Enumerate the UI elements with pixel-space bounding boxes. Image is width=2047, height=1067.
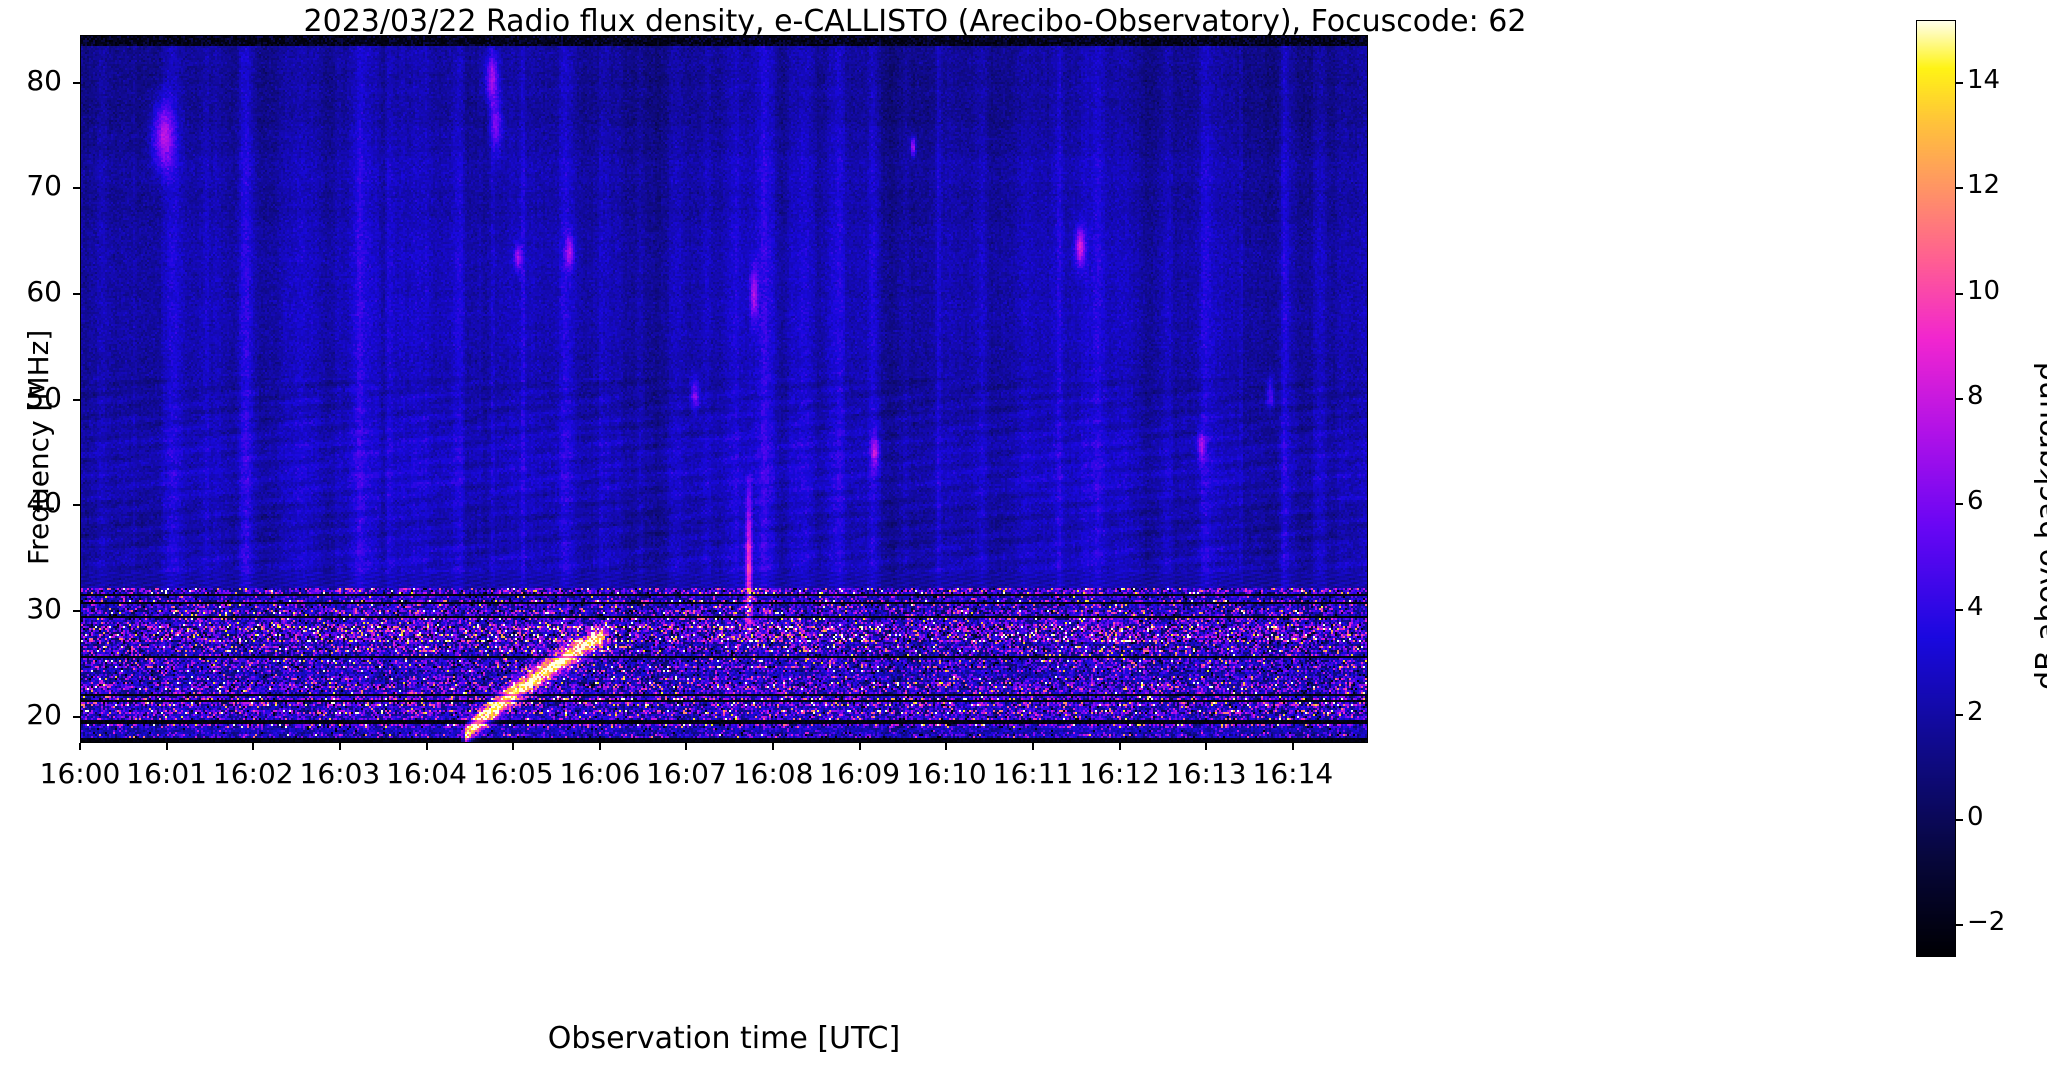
y-tick-label: 30: [0, 592, 62, 625]
y-tick-label: 60: [0, 275, 62, 308]
x-tick-label: 16:03: [300, 757, 381, 790]
x-tick-label: 16:14: [1253, 757, 1334, 790]
colorbar: [1916, 20, 1956, 957]
y-tick-mark: [73, 293, 80, 295]
y-tick-mark: [73, 399, 80, 401]
x-tick-mark: [685, 743, 687, 750]
x-tick-label: 16:11: [993, 757, 1074, 790]
x-tick-label: 16:10: [906, 757, 987, 790]
y-tick-mark: [73, 82, 80, 84]
colorbar-tick-label: 12: [1967, 170, 2000, 200]
colorbar-tick-label: 10: [1967, 276, 2000, 306]
colorbar-gradient: [1917, 21, 1955, 956]
x-tick-label: 16:12: [1079, 757, 1160, 790]
colorbar-tick-mark: [1956, 187, 1963, 189]
colorbar-tick-label: 8: [1967, 381, 1984, 411]
spectrogram-image: [81, 36, 1367, 742]
x-tick-label: 16:00: [40, 757, 121, 790]
y-tick-label: 70: [0, 169, 62, 202]
y-tick-label: 20: [0, 698, 62, 731]
colorbar-tick-mark: [1956, 82, 1963, 84]
x-tick-label: 16:06: [559, 757, 640, 790]
colorbar-tick-mark: [1956, 924, 1963, 926]
x-tick-label: 16:02: [213, 757, 294, 790]
colorbar-tick-mark: [1956, 819, 1963, 821]
x-tick-mark: [1205, 743, 1207, 750]
y-tick-mark: [73, 187, 80, 189]
colorbar-tick-label: 2: [1967, 697, 1984, 727]
x-tick-label: 16:07: [646, 757, 727, 790]
x-tick-label: 16:05: [473, 757, 554, 790]
x-tick-mark: [1119, 743, 1121, 750]
x-tick-mark: [426, 743, 428, 750]
y-tick-label: 50: [0, 381, 62, 414]
y-tick-mark: [73, 610, 80, 612]
x-tick-label: 16:01: [126, 757, 207, 790]
colorbar-tick-mark: [1956, 609, 1963, 611]
colorbar-tick-mark: [1956, 503, 1963, 505]
x-tick-mark: [252, 743, 254, 750]
x-tick-mark: [772, 743, 774, 750]
x-tick-mark: [1032, 743, 1034, 750]
x-tick-label: 16:09: [819, 757, 900, 790]
y-axis-label: Frequency [MHz]: [22, 330, 55, 565]
y-tick-label: 40: [0, 486, 62, 519]
x-tick-mark: [599, 743, 601, 750]
x-tick-mark: [79, 743, 81, 750]
y-tick-label: 80: [0, 64, 62, 97]
colorbar-tick-label: 14: [1967, 65, 2000, 95]
x-tick-label: 16:08: [733, 757, 814, 790]
colorbar-tick-label: 0: [1967, 802, 1984, 832]
figure-canvas: 2023/03/22 Radio flux density, e-CALLIST…: [0, 0, 2047, 1067]
y-tick-mark: [73, 716, 80, 718]
page-title: 2023/03/22 Radio flux density, e-CALLIST…: [0, 4, 1830, 39]
colorbar-tick-mark: [1956, 714, 1963, 716]
x-tick-label: 16:13: [1166, 757, 1247, 790]
colorbar-tick-label: −2: [1967, 907, 2005, 937]
x-axis-label: Observation time [UTC]: [80, 1021, 1368, 1056]
x-tick-mark: [512, 743, 514, 750]
x-tick-mark: [166, 743, 168, 750]
y-tick-mark: [73, 504, 80, 506]
colorbar-label: dB above background: [2030, 362, 2047, 690]
x-tick-mark: [1292, 743, 1294, 750]
x-tick-mark: [859, 743, 861, 750]
x-tick-mark: [945, 743, 947, 750]
colorbar-tick-label: 6: [1967, 486, 1984, 516]
spectrogram-axes: [80, 35, 1368, 743]
x-tick-label: 16:04: [386, 757, 467, 790]
colorbar-tick-mark: [1956, 398, 1963, 400]
x-tick-mark: [339, 743, 341, 750]
colorbar-tick-mark: [1956, 293, 1963, 295]
colorbar-tick-label: 4: [1967, 592, 1984, 622]
